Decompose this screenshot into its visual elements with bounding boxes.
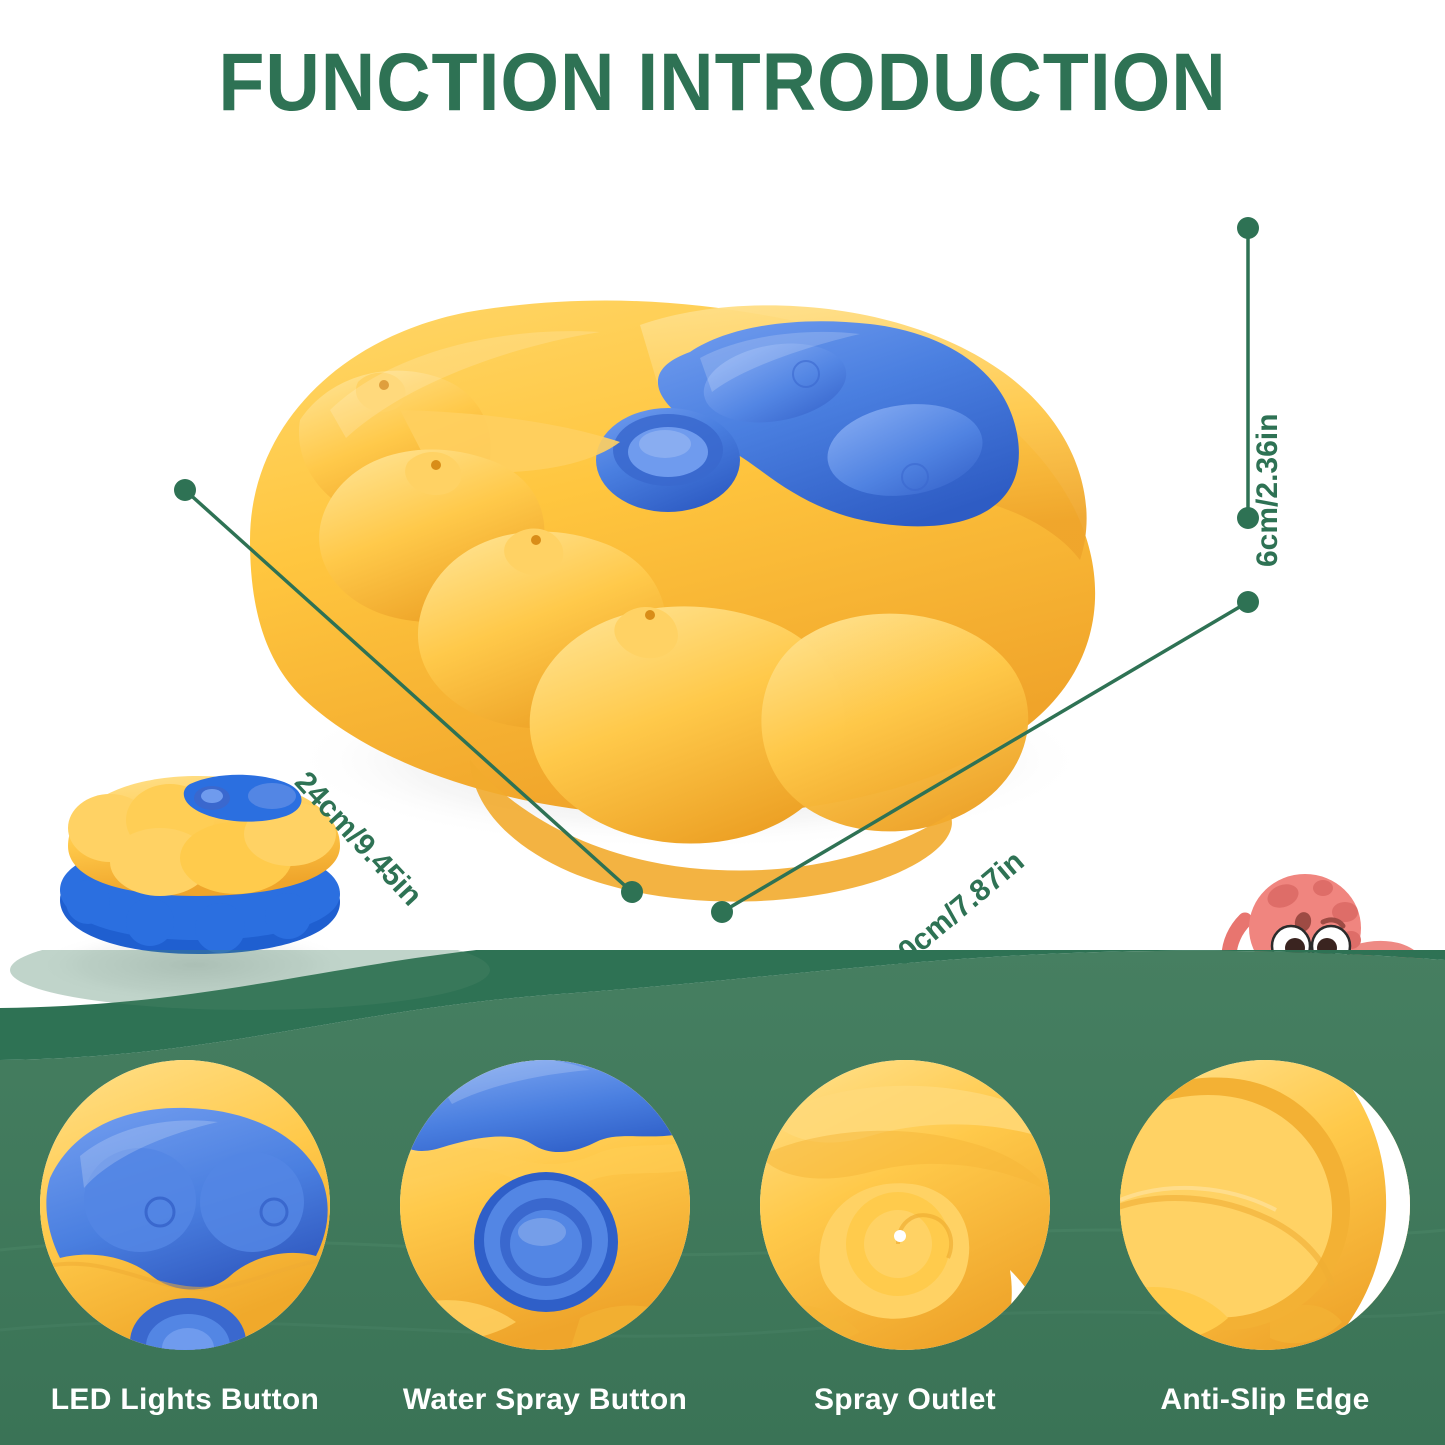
spray-button — [596, 408, 740, 512]
dimension-label-height: 6cm/2.36in — [1251, 414, 1285, 567]
feature-circle-anti-slip-edge[interactable] — [1120, 1060, 1410, 1350]
feature-circle-spray-outlet[interactable] — [760, 1060, 1050, 1350]
caption-anti-slip-edge: Anti-Slip Edge — [1085, 1383, 1445, 1417]
caption-led-lights-button: LED Lights Button — [5, 1383, 365, 1417]
nozzle-hole — [645, 610, 655, 620]
nozzle-hole — [531, 535, 541, 545]
feature-circle-led-lights-button[interactable] — [40, 1060, 330, 1350]
caption-water-spray-button: Water Spray Button — [365, 1383, 725, 1417]
page-title: FUNCTION INTRODUCTION — [58, 36, 1387, 130]
nozzle-hole — [431, 460, 441, 470]
caption-spray-outlet: Spray Outlet — [725, 1383, 1085, 1417]
spray-outlet-hole — [894, 1230, 906, 1242]
feature-circle-water-spray-button[interactable] — [400, 1060, 690, 1350]
infographic-page: FUNCTION INTRODUCTION — [0, 0, 1445, 1445]
feature-circles — [0, 1060, 1445, 1380]
